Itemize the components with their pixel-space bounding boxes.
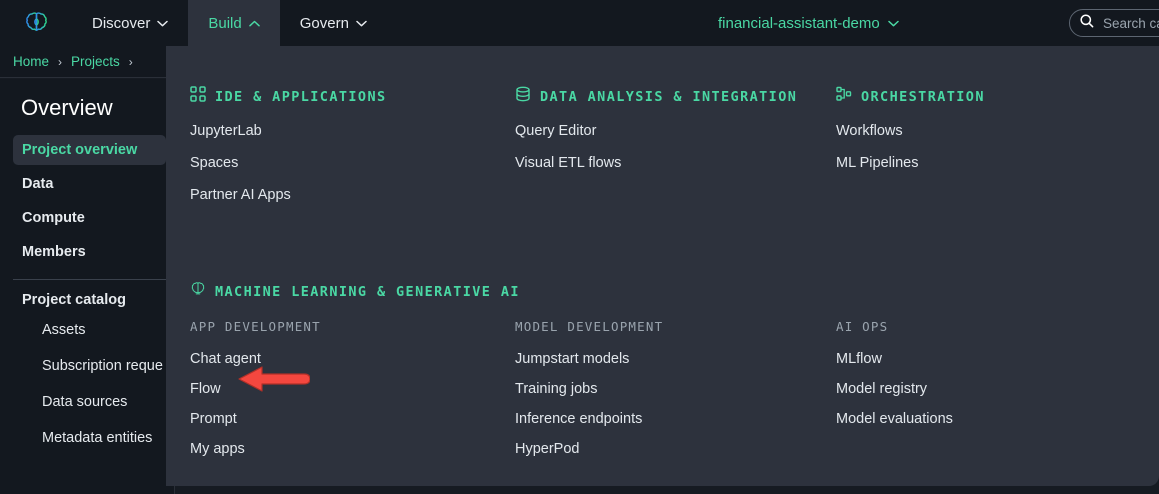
menu-item-flow[interactable]: Flow [190, 381, 515, 397]
nav-tab-build[interactable]: Build [188, 0, 279, 46]
menu-item-inference-endpoints[interactable]: Inference endpoints [515, 411, 836, 427]
sidebar-item-metadata-entities[interactable]: Metadata entities [0, 430, 174, 446]
section-header: DATA ANALYSIS & INTEGRATION [515, 86, 836, 107]
chevron-down-icon [356, 20, 367, 27]
panel-subsection-ai-ops: AI OPS MLflow Model registry Model evalu… [836, 319, 1136, 471]
nav-tab-build-label: Build [208, 15, 241, 32]
sidebar-item-members[interactable]: Members [13, 237, 166, 267]
section-title: IDE & APPLICATIONS [215, 89, 387, 105]
breadcrumb-item-home[interactable]: Home [13, 54, 49, 69]
subsection-title: APP DEVELOPMENT [190, 319, 515, 334]
menu-item-model-evaluations[interactable]: Model evaluations [836, 411, 1136, 427]
menu-item-chat-agent[interactable]: Chat agent [190, 351, 515, 367]
app-root: Discover Build Govern financial-assistan… [0, 0, 1159, 494]
sidebar-item-data-sources[interactable]: Data sources [0, 394, 174, 410]
menu-item-visual-etl-flows[interactable]: Visual ETL flows [515, 155, 836, 171]
menu-item-my-apps[interactable]: My apps [190, 441, 515, 457]
subsection-title: MODEL DEVELOPMENT [515, 319, 836, 334]
search-input[interactable]: Search cata [1069, 9, 1159, 37]
menu-item-prompt[interactable]: Prompt [190, 411, 515, 427]
sidebar-group-project-catalog: Project catalog [0, 292, 174, 308]
breadcrumb-separator: › [58, 55, 62, 69]
top-navigation-bar: Discover Build Govern financial-assistan… [0, 0, 1159, 46]
menu-item-training-jobs[interactable]: Training jobs [515, 381, 836, 397]
brain-icon [190, 281, 206, 302]
menu-item-hyperpod[interactable]: HyperPod [515, 441, 836, 457]
nav-tab-discover-label: Discover [92, 15, 150, 32]
panel-section-ide-applications: IDE & APPLICATIONS JupyterLab Spaces Par… [190, 86, 515, 219]
section-title: MACHINE LEARNING & GENERATIVE AI [215, 284, 520, 300]
section-header: MACHINE LEARNING & GENERATIVE AI [190, 281, 1159, 302]
sidebar-item-data[interactable]: Data [13, 169, 166, 199]
section-header: IDE & APPLICATIONS [190, 86, 515, 107]
section-title: ORCHESTRATION [861, 89, 985, 105]
menu-item-mlflow[interactable]: MLflow [836, 351, 1136, 367]
search-icon [1079, 13, 1095, 34]
nodes-graph-icon [836, 86, 852, 107]
menu-item-partner-ai-apps[interactable]: Partner AI Apps [190, 187, 515, 203]
sidebar-item-subscription-requests[interactable]: Subscription reque [0, 358, 174, 374]
sidebar-item-label: Compute [22, 210, 85, 226]
sidebar-item-label: Project overview [22, 142, 137, 158]
panel-top-columns: IDE & APPLICATIONS JupyterLab Spaces Par… [190, 86, 1159, 219]
nav-tab-discover[interactable]: Discover [72, 0, 188, 46]
menu-item-jumpstart-models[interactable]: Jumpstart models [515, 351, 836, 367]
panel-ml-columns: APP DEVELOPMENT Chat agent Flow Prompt M… [190, 319, 1159, 471]
chevron-down-icon [157, 20, 168, 27]
database-icon [515, 86, 531, 107]
brain-logo-icon[interactable] [0, 0, 72, 46]
project-selector[interactable]: financial-assistant-demo [718, 0, 899, 46]
breadcrumb-item-projects[interactable]: Projects [71, 54, 120, 69]
subsection-title: AI OPS [836, 319, 1136, 334]
chevron-up-icon [249, 20, 260, 27]
chevron-down-icon [888, 20, 899, 27]
search-placeholder: Search cata [1103, 16, 1159, 31]
section-title: DATA ANALYSIS & INTEGRATION [540, 89, 797, 105]
menu-item-model-registry[interactable]: Model registry [836, 381, 1136, 397]
section-header: ORCHESTRATION [836, 86, 1136, 107]
panel-section-data-analysis-integration: DATA ANALYSIS & INTEGRATION Query Editor… [515, 86, 836, 219]
page-title: Overview [0, 95, 174, 121]
sidebar-item-label: Members [22, 244, 86, 260]
panel-section-orchestration: ORCHESTRATION Workflows ML Pipelines [836, 86, 1136, 219]
menu-item-ml-pipelines[interactable]: ML Pipelines [836, 155, 1136, 171]
breadcrumb-separator: › [129, 55, 133, 69]
project-selector-label: financial-assistant-demo [718, 15, 880, 32]
panel-subsection-model-development: MODEL DEVELOPMENT Jumpstart models Train… [515, 319, 836, 471]
sidebar-item-label: Data [22, 176, 53, 192]
menu-item-workflows[interactable]: Workflows [836, 123, 1136, 139]
sidebar-item-assets[interactable]: Assets [0, 322, 174, 338]
sidebar: Overview Project overview Data Compute M… [0, 79, 175, 494]
panel-section-machine-learning-generative-ai: MACHINE LEARNING & GENERATIVE AI APP DEV… [190, 281, 1159, 471]
sidebar-divider [13, 279, 166, 280]
menu-item-query-editor[interactable]: Query Editor [515, 123, 836, 139]
menu-item-jupyterlab[interactable]: JupyterLab [190, 123, 515, 139]
nav-tab-govern[interactable]: Govern [280, 0, 387, 46]
sidebar-item-compute[interactable]: Compute [13, 203, 166, 233]
sidebar-item-project-overview[interactable]: Project overview [13, 135, 166, 165]
menu-item-spaces[interactable]: Spaces [190, 155, 515, 171]
build-dropdown-panel: IDE & APPLICATIONS JupyterLab Spaces Par… [166, 46, 1159, 486]
nav-tab-govern-label: Govern [300, 15, 349, 32]
grid-apps-icon [190, 86, 206, 107]
panel-subsection-app-development: APP DEVELOPMENT Chat agent Flow Prompt M… [190, 319, 515, 471]
